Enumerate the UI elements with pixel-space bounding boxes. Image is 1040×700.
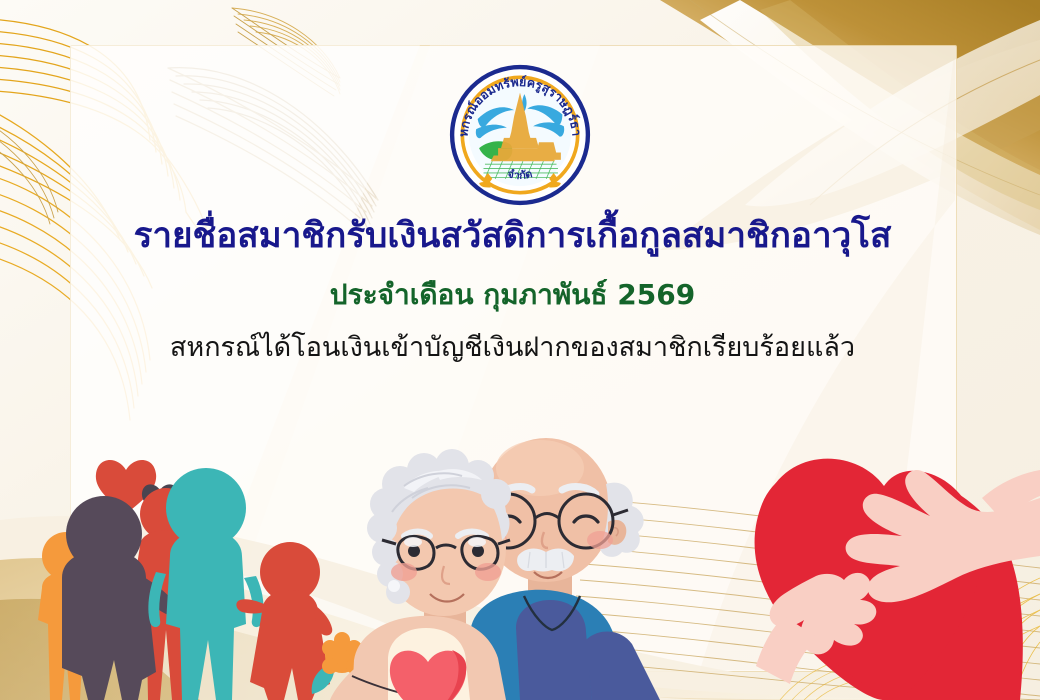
decoration-heart-hands (0, 0, 1040, 700)
banner-canvas: สหกรณ์ออมทรัพย์ครูสุราษฎร์ธานี จำกัด ราย… (0, 0, 1040, 700)
